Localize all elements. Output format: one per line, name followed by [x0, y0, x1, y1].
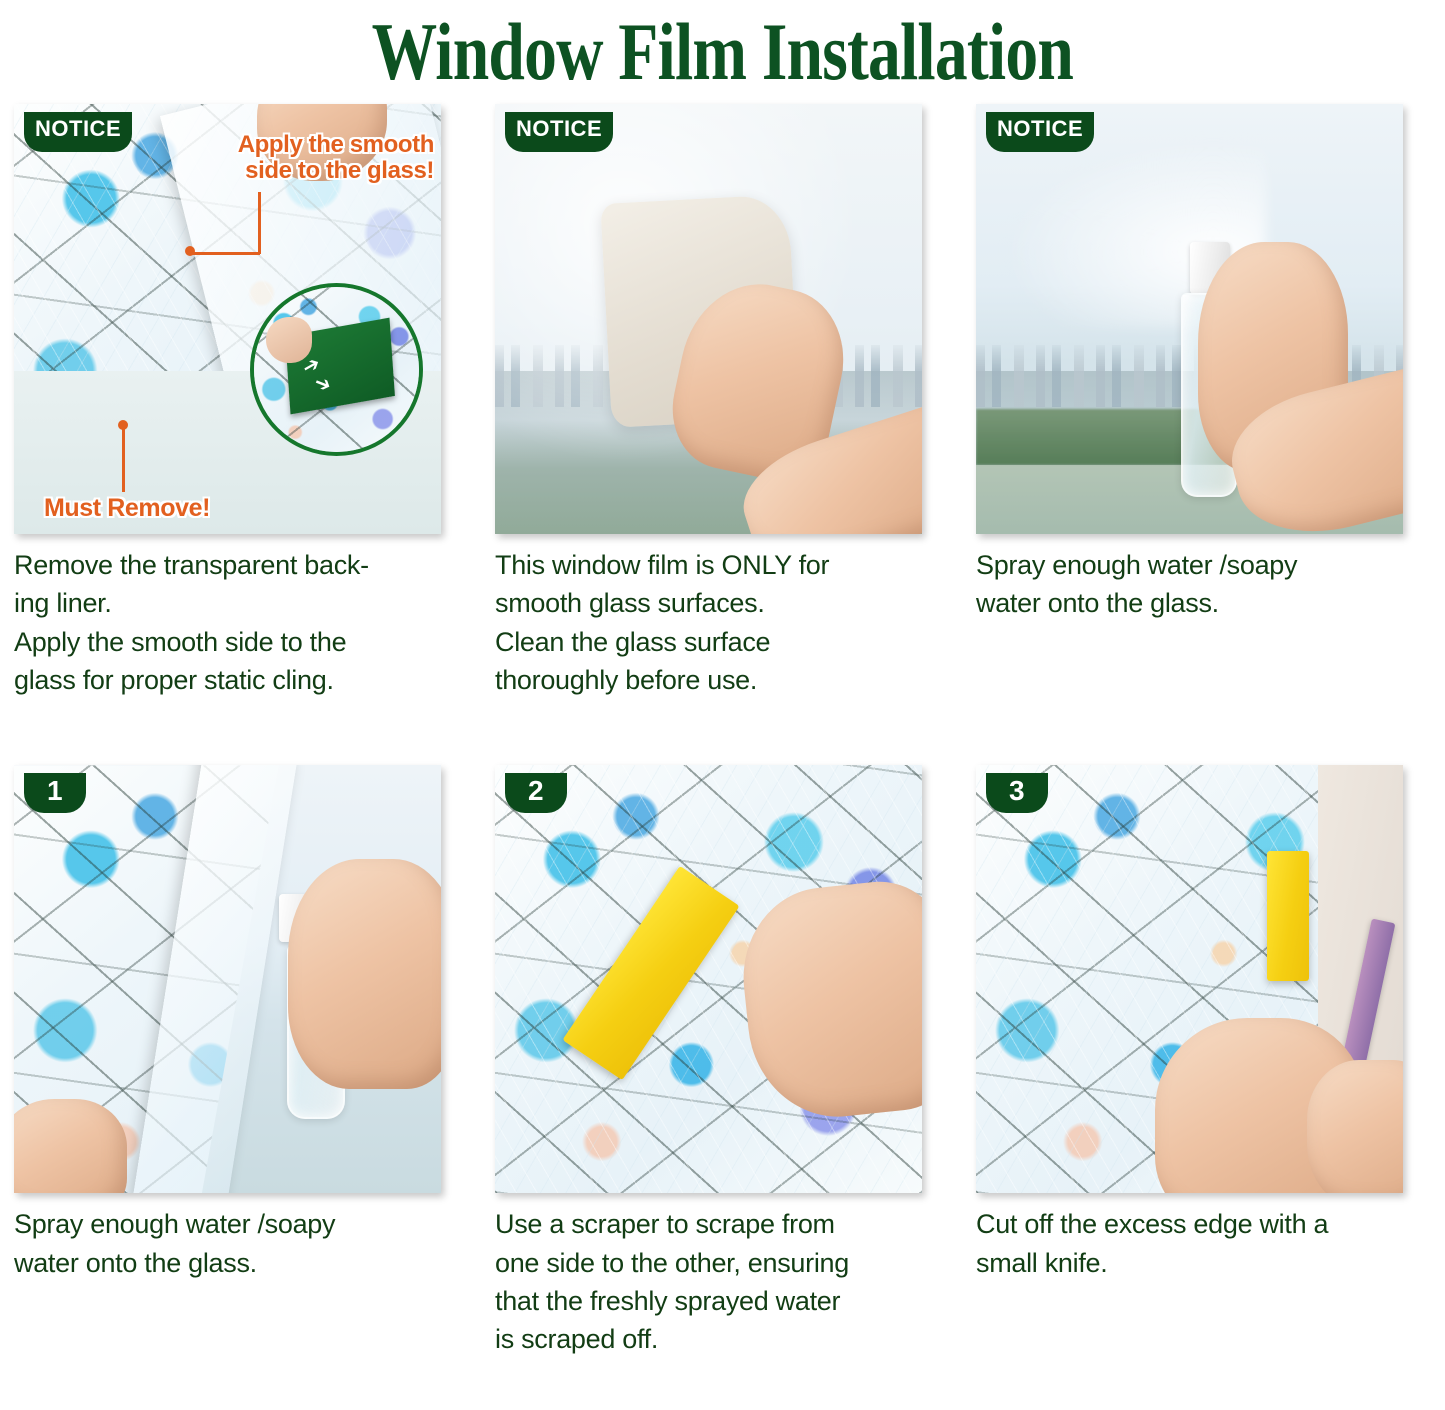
- callout-anchor-dot-2: [118, 420, 128, 430]
- instruction-grid: NOTICE Apply the smooth side to the glas…: [0, 104, 1445, 1359]
- notice-badge: NOTICE: [986, 112, 1094, 152]
- callout-leader-vertical-1: [258, 192, 261, 254]
- panel-4: 1 Spray enough water /soapy water onto t…: [0, 765, 481, 1358]
- panel-3-photo: NOTICE: [976, 104, 1403, 534]
- panel-6: 3 Cut off the excess edge with a small k…: [962, 765, 1443, 1358]
- callout-apply-smooth-side: Apply the smooth side to the glass!: [212, 132, 434, 184]
- magnifier-thumb: [266, 317, 312, 363]
- panel-2-photo: NOTICE: [495, 104, 922, 534]
- notice-badge: NOTICE: [505, 112, 613, 152]
- panel-3: NOTICE Spray enough water /soapy water o…: [962, 104, 1443, 699]
- instruction-row-bottom: 1 Spray enough water /soapy water onto t…: [0, 765, 1445, 1358]
- magnifier-inset: ➔ ➔: [250, 283, 423, 456]
- panel-1: NOTICE Apply the smooth side to the glas…: [0, 104, 481, 699]
- panel-2-caption: This window film is ONLY for smooth glas…: [495, 546, 948, 699]
- panel-5: 2 Use a scraper to scrape from one side …: [481, 765, 962, 1358]
- notice-badge: NOTICE: [24, 112, 132, 152]
- panel-5-caption: Use a scraper to scrape from one side to…: [495, 1205, 948, 1358]
- callout-must-remove: Must Remove!: [44, 495, 210, 522]
- instruction-row-top: NOTICE Apply the smooth side to the glas…: [0, 104, 1445, 699]
- panel-4-caption: Spray enough water /soapy water onto the…: [14, 1205, 467, 1282]
- panel-4-photo: 1: [14, 765, 441, 1193]
- panel-2: NOTICE This window film is ONLY for smoo…: [481, 104, 962, 699]
- panel-6-caption: Cut off the excess edge with a small kni…: [976, 1205, 1429, 1282]
- callout-leader-horizontal-1: [190, 252, 260, 255]
- callout-leader-vertical-2: [122, 426, 125, 492]
- page-title: Window Film Installation: [372, 11, 1073, 93]
- panel-6-photo: 3: [976, 765, 1403, 1193]
- step-badge-3: 3: [986, 773, 1048, 813]
- step-badge-1: 1: [24, 773, 86, 813]
- panel-3-caption: Spray enough water /soapy water onto the…: [976, 546, 1429, 623]
- yellow-scraper: [1267, 851, 1309, 981]
- hand-peeling-film: [14, 1099, 127, 1193]
- callout-anchor-dot-1: [185, 246, 195, 256]
- panel-1-photo: NOTICE Apply the smooth side to the glas…: [14, 104, 441, 534]
- panel-5-photo: 2: [495, 765, 922, 1193]
- title-bar: Window Film Installation: [0, 0, 1445, 104]
- hand-holding-knife: [1307, 1060, 1403, 1193]
- hand-holding-bottle: [288, 859, 441, 1089]
- panel-1-caption: Remove the transparent back- ing liner. …: [14, 546, 467, 699]
- step-badge-2: 2: [505, 773, 567, 813]
